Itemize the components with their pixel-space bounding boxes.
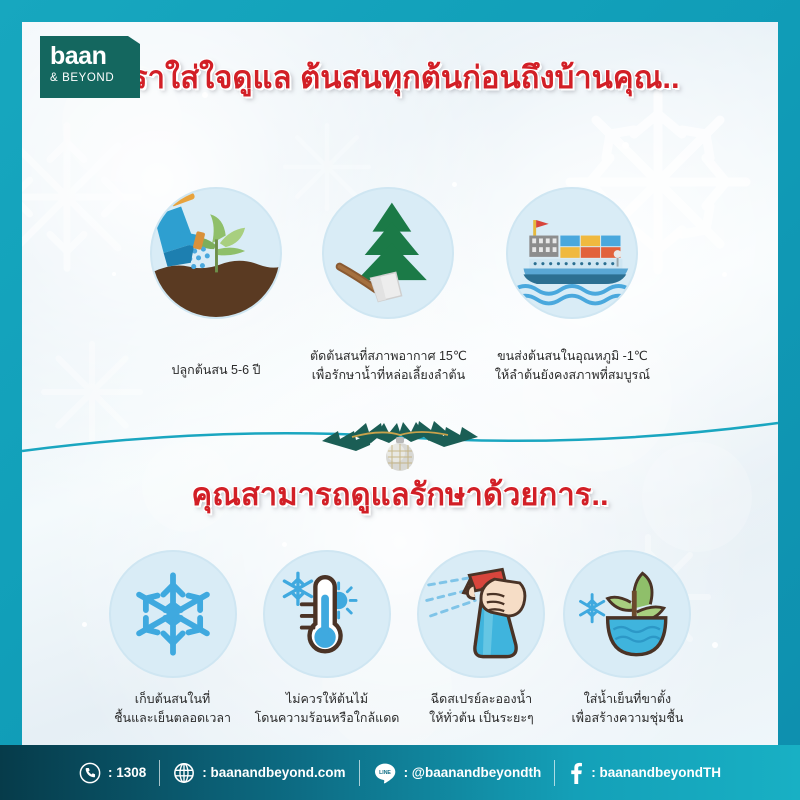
svg-text:LINE: LINE xyxy=(379,770,391,776)
process-step: ตัดต้นสนที่สภาพอากาศ 15℃ เพื่อรักษาน้ำที… xyxy=(310,187,467,385)
process-step: ปลูกต้นสน 5-6 ปี xyxy=(150,187,282,385)
tip-icon-circle xyxy=(109,550,237,678)
pine-garland-ornament-icon xyxy=(22,407,778,482)
step-caption: ปลูกต้นสน 5-6 ปี xyxy=(172,361,261,380)
process-step: ขนส่งต้นสนในอุณหภูมิ -1℃ ให้ลำต้นยังคงสภ… xyxy=(495,187,650,385)
footer-divider xyxy=(359,760,360,786)
footer-divider xyxy=(554,760,555,786)
facebook-icon xyxy=(568,762,584,784)
footer-phone-label: : 1308 xyxy=(108,765,146,780)
content-panel: baan & BEYOND เราใส่ใจดูแล ต้นสนทุกต้นก่… xyxy=(22,22,778,745)
care-tip: เก็บต้นสนในที่ ชื้นและเย็นตลอดเวลา xyxy=(109,550,237,728)
watering-can-seedling-icon xyxy=(152,187,280,319)
footer-divider xyxy=(159,760,160,786)
brand-logo-main: baan xyxy=(50,45,140,69)
globe-icon xyxy=(173,762,195,784)
step-caption: ตัดต้นสนที่สภาพอากาศ 15℃ เพื่อรักษาน้ำที… xyxy=(310,347,467,385)
footer-contact-phone[interactable]: : 1308 xyxy=(79,762,146,784)
step-icon-circle xyxy=(506,187,638,319)
care-tip: ไม่ควรให้ต้นไม้ โดนความร้อนหรือใกล้แดด xyxy=(255,550,400,728)
tip-icon-circle xyxy=(563,550,691,678)
snowflake-icon xyxy=(111,550,235,678)
process-steps-row: ปลูกต้นสน 5-6 ปี xyxy=(22,187,778,385)
cargo-ship-icon xyxy=(508,187,636,319)
footer-contact-bar: : 1308 : baanandbeyond.com LINE : @b xyxy=(0,745,800,800)
tip-caption: ใส่น้ำเย็นที่ขาตั้ง เพื่อสร้างความชุ่มชื… xyxy=(571,690,683,728)
footer-facebook-label: : baanandbeyondTH xyxy=(591,765,721,780)
tip-caption: เก็บต้นสนในที่ ชื้นและเย็นตลอดเวลา xyxy=(114,690,231,728)
footer-website-label: : baanandbeyond.com xyxy=(202,765,345,780)
tip-caption: ไม่ควรให้ต้นไม้ โดนความร้อนหรือใกล้แดด xyxy=(255,690,400,728)
tip-caption: ฉีดสเปรย์ละอองน้ำ ให้ทั่วต้น เป็นระยะๆ xyxy=(429,690,534,728)
step-icon-circle xyxy=(322,187,454,319)
thermometer-sun-snowflake-icon xyxy=(265,550,389,678)
footer-contact-line[interactable]: LINE : @baanandbeyondth xyxy=(373,761,542,785)
step-icon-circle xyxy=(150,187,282,319)
tip-icon-circle xyxy=(263,550,391,678)
pine-tree-axe-icon xyxy=(324,187,452,319)
care-tip: ฉีดสเปรย์ละอองน้ำ ให้ทั่วต้น เป็นระยะๆ xyxy=(417,550,545,728)
care-tip: ใส่น้ำเย็นที่ขาตั้ง เพื่อสร้างความชุ่มชื… xyxy=(563,550,691,728)
line-icon: LINE xyxy=(373,761,397,785)
phone-icon xyxy=(79,762,101,784)
brand-logo[interactable]: baan & BEYOND xyxy=(40,36,140,98)
care-tips-row: เก็บต้นสนในที่ ชื้นและเย็นตลอดเวลา xyxy=(22,550,778,728)
spray-bottle-hand-icon xyxy=(419,550,543,678)
seedling-water-basin-icon xyxy=(565,550,689,678)
footer-contact-facebook[interactable]: : baanandbeyondTH xyxy=(568,762,721,784)
brand-logo-sub: & BEYOND xyxy=(50,72,140,84)
footer-line-label: : @baanandbeyondth xyxy=(404,765,542,780)
garland-divider xyxy=(22,407,778,482)
poster-root: baan & BEYOND เราใส่ใจดูแล ต้นสนทุกต้นก่… xyxy=(0,0,800,800)
tip-icon-circle xyxy=(417,550,545,678)
footer-contact-website[interactable]: : baanandbeyond.com xyxy=(173,762,345,784)
headline-secondary: คุณสามารถดูแลรักษาด้วยการ.. xyxy=(22,477,778,514)
step-caption: ขนส่งต้นสนในอุณหภูมิ -1℃ ให้ลำต้นยังคงสภ… xyxy=(495,347,650,385)
